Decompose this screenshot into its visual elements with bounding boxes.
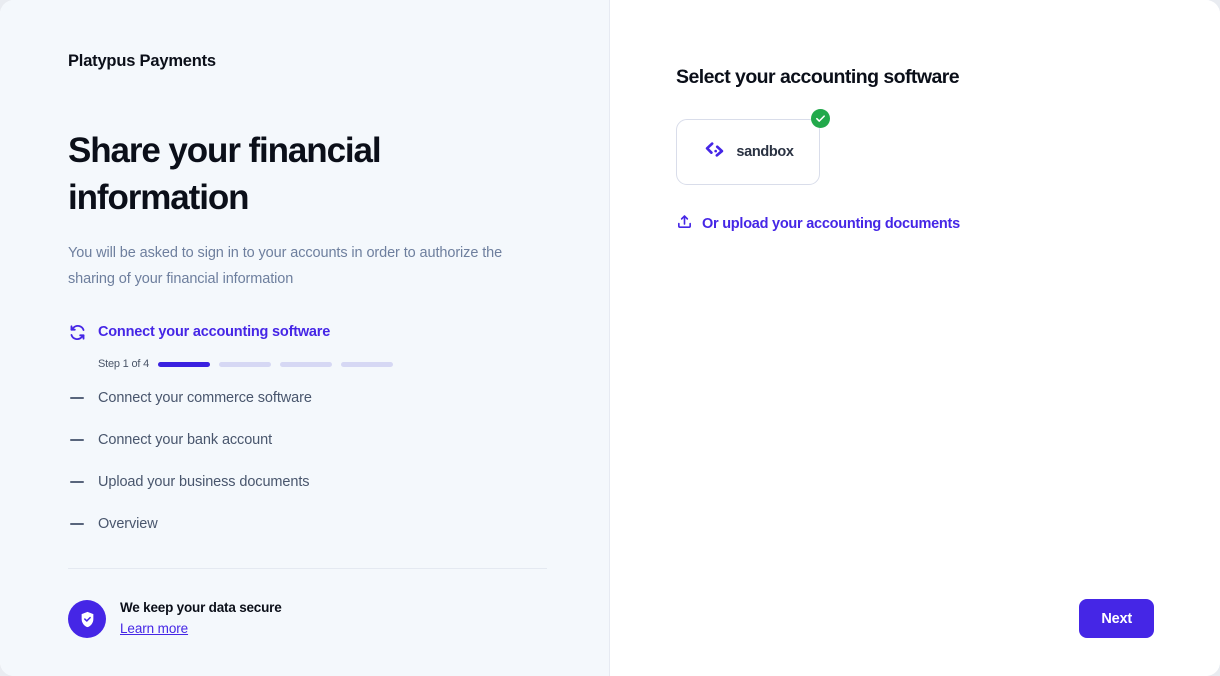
- security-notice-title: We keep your data secure: [120, 600, 282, 615]
- upload-icon: [676, 213, 693, 235]
- right-content-panel: Select your accounting software sandbox: [610, 0, 1220, 676]
- dash-icon: [68, 389, 86, 407]
- check-circle-icon: [811, 109, 830, 128]
- divider: [68, 568, 547, 569]
- step-label: Connect your bank account: [98, 432, 272, 448]
- inactive-steps-group: Connect your commerce software Connect y…: [68, 386, 547, 536]
- steps-list: Connect your accounting software Step 1 …: [68, 320, 547, 536]
- step-item-overview[interactable]: Overview: [68, 512, 547, 536]
- next-button[interactable]: Next: [1079, 599, 1154, 638]
- step-item-connect-commerce-software[interactable]: Connect your commerce software: [68, 386, 547, 410]
- progress-segment-2: [219, 362, 271, 367]
- step-progress-label: Step 1 of 4: [98, 358, 149, 370]
- step-label: Connect your commerce software: [98, 390, 312, 406]
- panel-title: Select your accounting software: [676, 66, 1154, 89]
- software-card-list: sandbox: [676, 119, 1154, 185]
- step-progress: Step 1 of 4: [68, 358, 547, 370]
- page-subtitle: You will be asked to sign in to your acc…: [68, 240, 547, 292]
- onboarding-page: Platypus Payments Share your financial i…: [0, 0, 1220, 676]
- dash-icon: [68, 515, 86, 533]
- progress-segment-4: [341, 362, 393, 367]
- step-label: Upload your business documents: [98, 474, 309, 490]
- security-notice: We keep your data secure Learn more: [68, 600, 282, 638]
- step-item-connect-accounting-software[interactable]: Connect your accounting software: [68, 320, 547, 344]
- sync-icon: [68, 323, 86, 341]
- security-notice-text: We keep your data secure Learn more: [120, 600, 282, 638]
- upload-documents-label: Or upload your accounting documents: [702, 216, 960, 232]
- code-brackets-icon: [702, 137, 727, 167]
- step-item-upload-business-documents[interactable]: Upload your business documents: [68, 470, 547, 494]
- step-label: Overview: [98, 516, 158, 532]
- software-card-sandbox[interactable]: sandbox: [676, 119, 820, 185]
- brand-title: Platypus Payments: [68, 52, 547, 71]
- step-label: Connect your accounting software: [98, 324, 330, 340]
- software-card-label: sandbox: [736, 144, 793, 160]
- left-info-panel: Platypus Payments Share your financial i…: [0, 0, 610, 676]
- dash-icon: [68, 431, 86, 449]
- shield-check-icon: [68, 600, 106, 638]
- page-title: Share your financial information: [68, 127, 468, 221]
- progress-segment-3: [280, 362, 332, 367]
- upload-documents-link[interactable]: Or upload your accounting documents: [676, 213, 960, 235]
- dash-icon: [68, 473, 86, 491]
- progress-segment-1: [158, 362, 210, 367]
- step-item-connect-bank-account[interactable]: Connect your bank account: [68, 428, 547, 452]
- learn-more-link[interactable]: Learn more: [120, 621, 188, 636]
